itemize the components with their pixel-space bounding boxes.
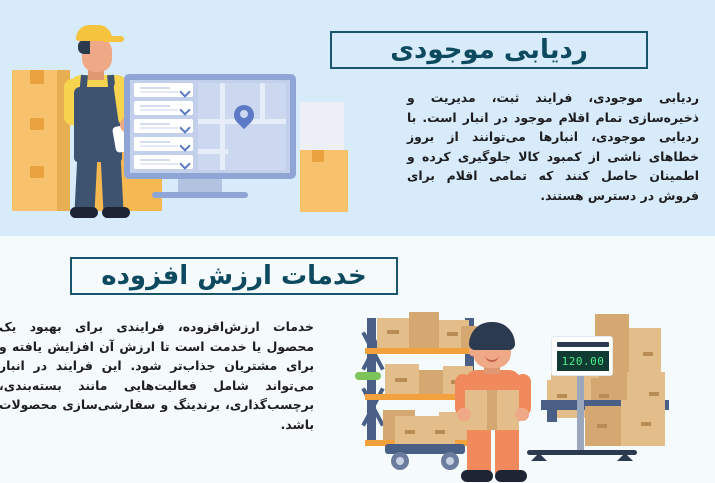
- list-item[interactable]: [134, 119, 193, 133]
- map-pin-icon: [234, 105, 254, 131]
- map-panel[interactable]: [198, 83, 286, 170]
- list-item-line: [140, 159, 170, 161]
- section-value-added-services: خدمات ارزش افزوده خدمات ارزش‌افزوده، فرا…: [0, 236, 715, 483]
- section-inventory-title-box: ردیابی موجودی: [330, 31, 648, 69]
- map-pin-dot: [240, 110, 248, 118]
- carton-box-tape: [312, 150, 324, 162]
- list-item-line: [140, 91, 178, 93]
- carton-label: [599, 394, 609, 398]
- map-road: [220, 83, 225, 170]
- carton-box-tape: [30, 118, 44, 130]
- cart-handle[interactable]: [355, 372, 381, 380]
- chevron-down-icon[interactable]: [181, 87, 189, 95]
- carton: [419, 370, 445, 394]
- worker-left-shoe: [461, 470, 493, 482]
- list-item-line: [140, 141, 170, 143]
- list-item[interactable]: [134, 155, 193, 169]
- cart-wheel-hub: [396, 457, 404, 465]
- list-item-line: [140, 87, 170, 89]
- list-item-line: [140, 123, 170, 125]
- map-road: [198, 149, 228, 154]
- chevron-down-icon[interactable]: [181, 159, 189, 167]
- worker-right-shoe: [102, 207, 130, 218]
- page-subtitle: خدمات ارزش افزوده: [101, 263, 367, 289]
- list-item-line: [140, 145, 178, 147]
- carton-label: [557, 394, 567, 398]
- list-item[interactable]: [134, 83, 193, 97]
- worker-left-shoe: [70, 207, 98, 218]
- carton-label: [643, 352, 653, 356]
- worker-cap-brim: [104, 36, 124, 42]
- worker-eye: [83, 49, 88, 53]
- section-inventory-paragraph: ردیابی موجودی، فرایند ثبت، مدیریت و ذخیر…: [407, 88, 699, 206]
- map-road: [260, 83, 265, 123]
- list-item-line: [140, 109, 178, 111]
- scale-lcd: 120.00: [557, 351, 609, 371]
- scale-post: [577, 372, 584, 452]
- list-item-line: [140, 127, 178, 129]
- illustration-warehouse-monitor: [0, 0, 340, 236]
- worker-right-hand: [515, 408, 529, 421]
- section-inventory-tracking: ردیابی موجودی ردیابی موجودی، فرایند ثبت،…: [0, 0, 715, 236]
- list-item-line: [140, 163, 178, 165]
- worker-left-eye: [481, 345, 486, 350]
- list-item[interactable]: [134, 137, 193, 151]
- infographic-page: ردیابی موجودی ردیابی موجودی، فرایند ثبت،…: [0, 0, 715, 483]
- worker-illustration: [443, 322, 553, 482]
- carton: [409, 312, 439, 348]
- inventory-list-panel: [134, 83, 194, 170]
- carton-label: [641, 422, 651, 426]
- carton-label: [387, 330, 399, 334]
- monitor-stand-base: [152, 192, 248, 198]
- carton-held-tape: [487, 390, 497, 430]
- carton-box-tape: [30, 166, 44, 178]
- scale-display: 120.00: [551, 336, 613, 376]
- chevron-down-icon[interactable]: [181, 105, 189, 113]
- list-item[interactable]: [134, 101, 193, 115]
- section-value-added-title-box: خدمات ارزش افزوده: [70, 257, 398, 295]
- carton-label: [395, 378, 407, 382]
- carton-box-tape: [30, 70, 44, 84]
- worker-left-hand: [457, 408, 471, 421]
- list-item-line: [140, 105, 170, 107]
- carton-label: [649, 392, 659, 396]
- chevron-down-icon[interactable]: [181, 141, 189, 149]
- worker-right-eye: [498, 345, 503, 350]
- section-value-added-paragraph: خدمات ارزش‌افزوده، فرایندی برای بهبود یک…: [0, 317, 314, 435]
- carton-label: [405, 430, 415, 434]
- worker-hair: [469, 322, 515, 350]
- chevron-down-icon[interactable]: [181, 123, 189, 131]
- worker-right-shoe: [495, 470, 527, 482]
- illustration-rack-scale: 120.00: [355, 300, 715, 483]
- carton-box-right: [300, 150, 348, 212]
- scale-display-bar: [557, 342, 609, 347]
- carton-label: [597, 424, 607, 428]
- page-title: ردیابی موجودی: [390, 37, 588, 63]
- scale-weight-value: 120.00: [562, 355, 605, 368]
